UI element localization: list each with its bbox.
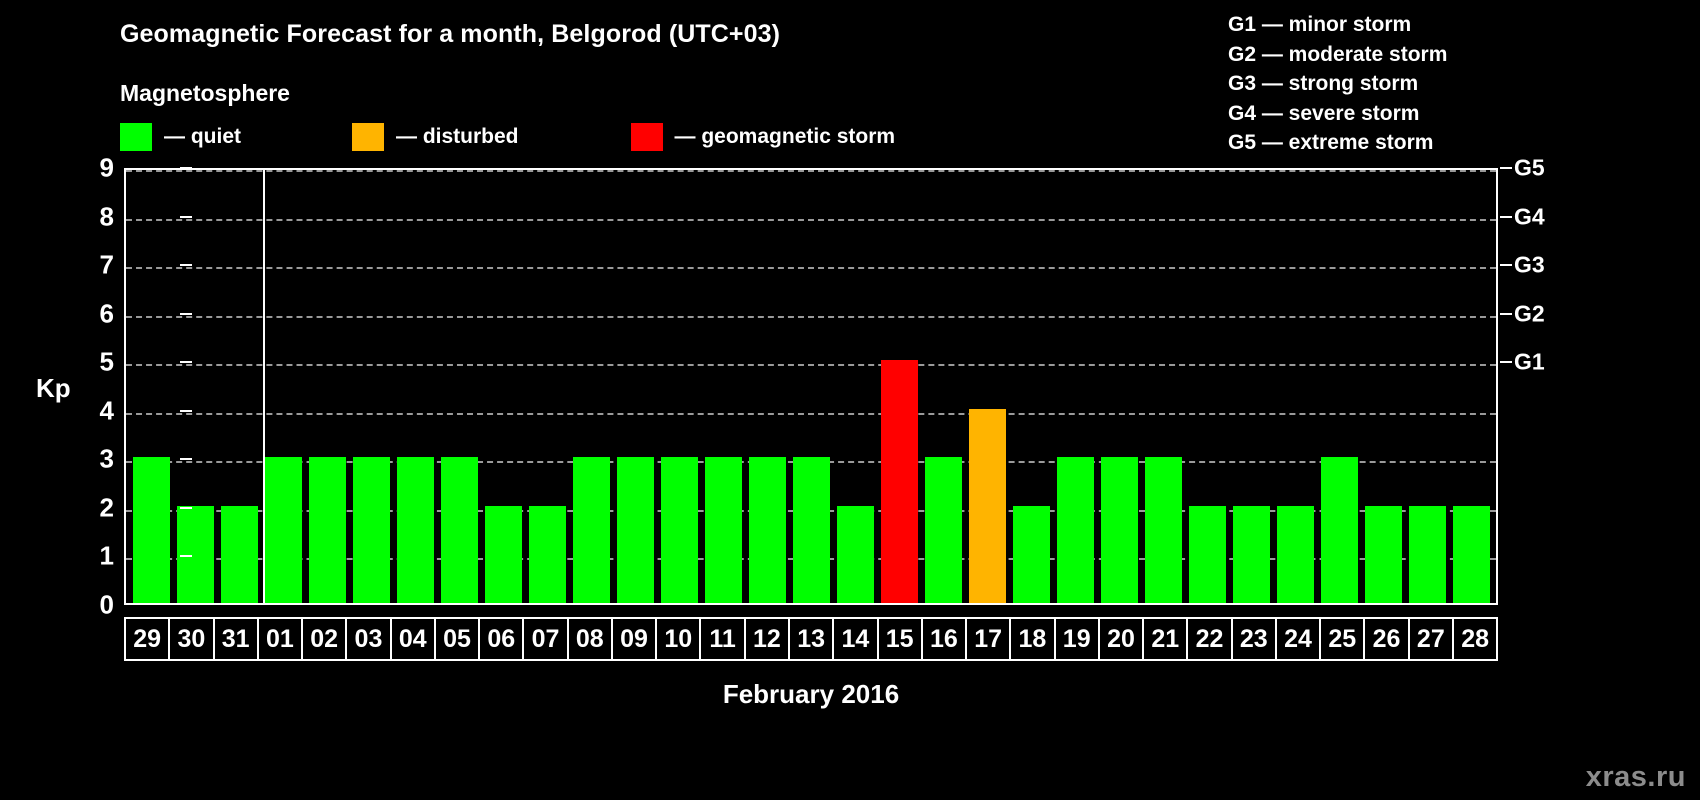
day-label-05[interactable]: 05 bbox=[436, 619, 480, 659]
day-label-04[interactable]: 04 bbox=[392, 619, 436, 659]
bar-slot bbox=[833, 170, 877, 603]
bar-slot bbox=[1449, 170, 1493, 603]
gscale-key-line: G1 — minor storm bbox=[1228, 10, 1447, 40]
bar-slot bbox=[569, 170, 613, 603]
y-tick-label-5: 5 bbox=[100, 347, 114, 378]
y-tick-label-7: 7 bbox=[100, 250, 114, 281]
bar-slot bbox=[965, 170, 1009, 603]
g-tick-label-G1: G1 bbox=[1514, 349, 1545, 376]
day-label-31[interactable]: 31 bbox=[215, 619, 259, 659]
day-label-28[interactable]: 28 bbox=[1454, 619, 1496, 659]
bar-day-02[interactable] bbox=[309, 457, 346, 603]
y-tick-mark-4 bbox=[180, 410, 192, 412]
day-label-02[interactable]: 02 bbox=[303, 619, 347, 659]
bar-slot bbox=[1405, 170, 1449, 603]
day-label-16[interactable]: 16 bbox=[923, 619, 967, 659]
g-tick-label-G4: G4 bbox=[1514, 203, 1545, 230]
bar-slot bbox=[877, 170, 921, 603]
bar-day-25[interactable] bbox=[1321, 457, 1358, 603]
gscale-key-line: G3 — strong storm bbox=[1228, 69, 1447, 99]
orange-swatch-icon bbox=[352, 123, 384, 151]
day-label-01[interactable]: 01 bbox=[259, 619, 303, 659]
bar-slot bbox=[393, 170, 437, 603]
bar-slot bbox=[789, 170, 833, 603]
bar-day-27[interactable] bbox=[1409, 506, 1446, 603]
bar-slot bbox=[1053, 170, 1097, 603]
bar-slot bbox=[1229, 170, 1273, 603]
day-label-27[interactable]: 27 bbox=[1410, 619, 1454, 659]
g-tick-mark-G4 bbox=[1500, 216, 1512, 218]
legend-item-quiet: — quiet bbox=[120, 123, 241, 151]
bar-slot bbox=[437, 170, 481, 603]
bar-slot bbox=[305, 170, 349, 603]
legend-label: — disturbed bbox=[396, 125, 519, 149]
bar-day-24[interactable] bbox=[1277, 506, 1314, 603]
y-tick-mark-1 bbox=[180, 555, 192, 557]
day-label-18[interactable]: 18 bbox=[1011, 619, 1055, 659]
day-label-11[interactable]: 11 bbox=[701, 619, 745, 659]
bar-day-07[interactable] bbox=[529, 506, 566, 603]
bar-day-22[interactable] bbox=[1189, 506, 1226, 603]
bar-slot bbox=[261, 170, 305, 603]
bar-day-05[interactable] bbox=[441, 457, 478, 603]
legend-label: — quiet bbox=[164, 125, 241, 149]
bar-day-26[interactable] bbox=[1365, 506, 1402, 603]
bar-slot bbox=[1361, 170, 1405, 603]
g-tick-label-G2: G2 bbox=[1514, 300, 1545, 327]
bar-day-09[interactable] bbox=[617, 457, 654, 603]
day-label-26[interactable]: 26 bbox=[1365, 619, 1409, 659]
y-tick-label-6: 6 bbox=[100, 298, 114, 329]
legend-item-disturbed: — disturbed bbox=[352, 123, 519, 151]
day-label-10[interactable]: 10 bbox=[657, 619, 701, 659]
bar-day-21[interactable] bbox=[1145, 457, 1182, 603]
legend-label: — geomagnetic storm bbox=[675, 125, 896, 149]
day-label-14[interactable]: 14 bbox=[834, 619, 878, 659]
g-tick-label-G3: G3 bbox=[1514, 252, 1545, 279]
bar-slot bbox=[1141, 170, 1185, 603]
bars-layer bbox=[126, 170, 1496, 603]
day-label-30[interactable]: 30 bbox=[170, 619, 214, 659]
day-label-06[interactable]: 06 bbox=[480, 619, 524, 659]
y-tick-label-9: 9 bbox=[100, 153, 114, 184]
bar-slot bbox=[1009, 170, 1053, 603]
day-label-21[interactable]: 21 bbox=[1144, 619, 1188, 659]
watermark: xras.ru bbox=[1586, 761, 1686, 794]
bar-day-28[interactable] bbox=[1453, 506, 1490, 603]
bar-slot bbox=[129, 170, 173, 603]
bar-slot bbox=[745, 170, 789, 603]
y-tick-label-4: 4 bbox=[100, 395, 114, 426]
y-axis: 9876543210 bbox=[70, 168, 114, 605]
bar-slot bbox=[657, 170, 701, 603]
bar-day-06[interactable] bbox=[485, 506, 522, 603]
gscale-key-line: G5 — extreme storm bbox=[1228, 128, 1447, 158]
y-tick-mark-6 bbox=[180, 313, 192, 315]
day-label-13[interactable]: 13 bbox=[790, 619, 834, 659]
y-tick-label-2: 2 bbox=[100, 492, 114, 523]
day-label-29[interactable]: 29 bbox=[126, 619, 170, 659]
bar-slot bbox=[613, 170, 657, 603]
legend: — quiet— disturbed— geomagnetic storm bbox=[120, 123, 895, 151]
y-tick-mark-7 bbox=[180, 264, 192, 266]
bar-slot bbox=[525, 170, 569, 603]
bar-slot bbox=[1097, 170, 1141, 603]
day-label-25[interactable]: 25 bbox=[1321, 619, 1365, 659]
bar-day-11[interactable] bbox=[705, 457, 742, 603]
bar-slot bbox=[1273, 170, 1317, 603]
y-tick-mark-9 bbox=[180, 167, 192, 169]
legend-heading: Magnetosphere bbox=[120, 80, 290, 107]
bar-day-15[interactable] bbox=[881, 360, 918, 603]
y-tick-label-1: 1 bbox=[100, 541, 114, 572]
g-tick-mark-G5 bbox=[1500, 167, 1512, 169]
day-label-22[interactable]: 22 bbox=[1188, 619, 1232, 659]
g-tick-mark-G1 bbox=[1500, 361, 1512, 363]
day-label-17[interactable]: 17 bbox=[967, 619, 1011, 659]
y-tick-mark-2 bbox=[180, 507, 192, 509]
bar-day-04[interactable] bbox=[397, 457, 434, 603]
bar-day-19[interactable] bbox=[1057, 457, 1094, 603]
page-title: Geomagnetic Forecast for a month, Belgor… bbox=[120, 20, 780, 49]
bar-slot bbox=[1317, 170, 1361, 603]
x-axis-caption: February 2016 bbox=[124, 679, 1498, 710]
day-label-20[interactable]: 20 bbox=[1100, 619, 1144, 659]
g-tick-mark-G3 bbox=[1500, 264, 1512, 266]
day-label-07[interactable]: 07 bbox=[524, 619, 568, 659]
day-label-24[interactable]: 24 bbox=[1277, 619, 1321, 659]
plot-area bbox=[124, 168, 1498, 605]
bar-day-20[interactable] bbox=[1101, 457, 1138, 603]
bar-day-12[interactable] bbox=[749, 457, 786, 603]
bar-day-30[interactable] bbox=[177, 506, 214, 603]
y-tick-label-3: 3 bbox=[100, 444, 114, 475]
x-axis-day-labels: 2930310102030405060708091011121314151617… bbox=[124, 617, 1498, 661]
bar-slot bbox=[701, 170, 745, 603]
y-tick-label-8: 8 bbox=[100, 201, 114, 232]
y-axis-title: Kp bbox=[36, 373, 71, 404]
day-label-03[interactable]: 03 bbox=[347, 619, 391, 659]
bar-day-31[interactable] bbox=[221, 506, 258, 603]
g-axis: G5G4G3G2G1 bbox=[1500, 168, 1560, 605]
bar-day-17[interactable] bbox=[969, 409, 1006, 603]
gscale-key-line: G2 — moderate storm bbox=[1228, 40, 1447, 70]
day-label-19[interactable]: 19 bbox=[1056, 619, 1100, 659]
green-swatch-icon bbox=[120, 123, 152, 151]
bar-day-01[interactable] bbox=[265, 457, 302, 603]
day-label-15[interactable]: 15 bbox=[879, 619, 923, 659]
bar-day-10[interactable] bbox=[661, 457, 698, 603]
bar-day-13[interactable] bbox=[793, 457, 830, 603]
day-label-12[interactable]: 12 bbox=[746, 619, 790, 659]
bar-slot bbox=[173, 170, 217, 603]
day-label-09[interactable]: 09 bbox=[613, 619, 657, 659]
bar-day-18[interactable] bbox=[1013, 506, 1050, 603]
y-tick-mark-3 bbox=[180, 458, 192, 460]
bar-day-23[interactable] bbox=[1233, 506, 1270, 603]
day-label-08[interactable]: 08 bbox=[569, 619, 613, 659]
bar-slot bbox=[921, 170, 965, 603]
bar-slot bbox=[217, 170, 261, 603]
bar-slot bbox=[481, 170, 525, 603]
bar-day-03[interactable] bbox=[353, 457, 390, 603]
y-tick-label-0: 0 bbox=[100, 590, 114, 621]
y-tick-mark-8 bbox=[180, 216, 192, 218]
bar-day-16[interactable] bbox=[925, 457, 962, 603]
g-tick-mark-G2 bbox=[1500, 313, 1512, 315]
y-tick-mark-5 bbox=[180, 361, 192, 363]
bar-day-29[interactable] bbox=[133, 457, 170, 603]
gscale-key: G1 — minor stormG2 — moderate stormG3 — … bbox=[1228, 10, 1447, 158]
day-label-23[interactable]: 23 bbox=[1233, 619, 1277, 659]
gscale-key-line: G4 — severe storm bbox=[1228, 99, 1447, 129]
bar-slot bbox=[1185, 170, 1229, 603]
bar-slot bbox=[349, 170, 393, 603]
g-tick-label-G5: G5 bbox=[1514, 155, 1545, 182]
red-swatch-icon bbox=[631, 123, 663, 151]
legend-item-geomagneticstorm: — geomagnetic storm bbox=[631, 123, 896, 151]
bar-day-14[interactable] bbox=[837, 506, 874, 603]
bar-day-08[interactable] bbox=[573, 457, 610, 603]
